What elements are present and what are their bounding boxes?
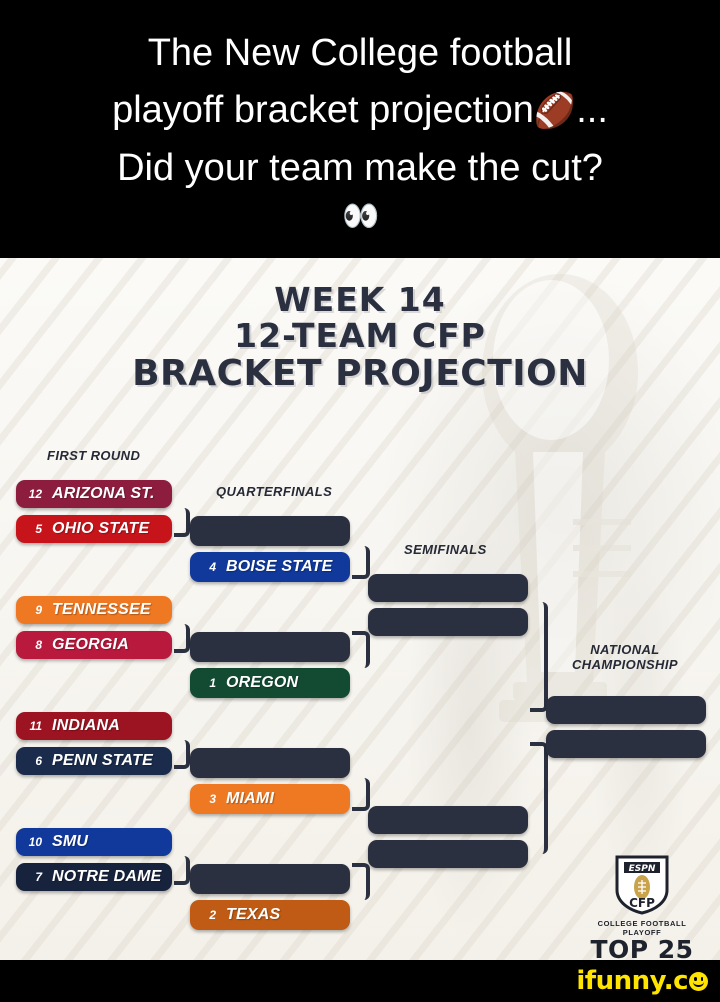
seed-number: 5 [16,522,42,536]
bracket-title-line-3: BRACKET PROJECTION [0,354,720,394]
team-name: TEXAS [226,906,280,924]
championship-slot-tbd-1[interactable] [546,696,706,724]
round-label-first-round: FIRST ROUND [47,448,140,463]
national-championship-line-2: CHAMPIONSHIP [572,657,678,672]
connector-qf3 [352,778,370,811]
connector-qf1 [352,546,370,579]
team-pill-penn-state[interactable]: 6 PENN STATE [16,747,172,775]
quarterfinal-slot-tbd-1[interactable] [190,516,350,546]
team-name: MIAMI [226,790,274,808]
caption-header: The New College football playoff bracket… [0,0,720,258]
smiley-icon [689,972,708,991]
football-icon: 🏈 [534,92,576,130]
semifinal-slot-tbd-3[interactable] [368,806,528,834]
team-pill-texas[interactable]: 2 TEXAS [190,900,350,930]
caption-line-1: The New College football [148,25,573,82]
team-name: SMU [52,833,88,851]
caption-line-2: playoff bracket projection🏈... [112,82,608,140]
seed-number: 11 [16,719,42,733]
team-pill-ohio-state[interactable]: 5 OHIO STATE [16,515,172,543]
meme-page: The New College football playoff bracket… [0,0,720,1002]
team-pill-arizona-st[interactable]: 12 ARIZONA ST. [16,480,172,508]
seed-number: 6 [16,754,42,768]
team-name: NOTRE DAME [52,868,162,886]
caption-line-3: Did your team make the cut? [117,140,603,197]
seed-number: 12 [16,487,42,501]
team-name: PENN STATE [52,752,153,770]
semifinal-slot-tbd-2[interactable] [368,608,528,636]
team-name: TENNESSEE [52,601,151,619]
ifunny-watermark: ifunny.c [0,960,720,1002]
ifunny-watermark-text: ifunny.c [576,966,688,996]
caption-line-2-text: playoff bracket projection [112,89,534,131]
seed-number: 1 [190,676,216,690]
round-label-quarterfinals: QUARTERFINALS [216,484,332,499]
cfp-wordmark: CFP [629,896,655,910]
cfp-shield-icon: ESPN CFP [613,854,671,916]
quarterfinal-slot-tbd-4[interactable] [190,864,350,894]
connector-qf2 [352,631,370,668]
seed-number: 9 [16,603,42,617]
team-pill-boise-state[interactable]: 4 BOISE STATE [190,552,350,582]
seed-number: 10 [16,835,42,849]
connector-fr1 [174,508,190,537]
team-pill-indiana[interactable]: 11 INDIANA [16,712,172,740]
quarterfinal-slot-tbd-2[interactable] [190,632,350,662]
cfp-top25-label: TOP 25 [582,937,702,960]
seed-number: 3 [190,792,216,806]
connector-sf-bottom [530,742,548,854]
team-pill-georgia[interactable]: 8 GEORGIA [16,631,172,659]
round-label-semifinals: SEMIFINALS [404,542,487,557]
semifinal-slot-tbd-1[interactable] [368,574,528,602]
bracket-title-line-1: WEEK 14 [0,282,720,318]
cfp-logo-block: ESPN CFP COLLEGE FOOTBALL PLAYOFF TOP 25… [582,854,702,960]
connector-sf-top [530,602,548,712]
championship-slot-tbd-2[interactable] [546,730,706,758]
seed-number: 2 [190,908,216,922]
connector-qf4 [352,863,370,900]
seed-number: 4 [190,560,216,574]
team-pill-tennessee[interactable]: 9 TENNESSEE [16,596,172,624]
connector-fr2 [174,624,190,653]
espn-wordmark: ESPN [629,864,656,874]
team-name: ARIZONA ST. [52,485,155,503]
quarterfinal-slot-tbd-3[interactable] [190,748,350,778]
team-pill-miami[interactable]: 3 MIAMI [190,784,350,814]
team-name: GEORGIA [52,636,129,654]
connector-fr3 [174,740,190,769]
round-label-national-championship: NATIONAL CHAMPIONSHIP [572,642,678,672]
seed-number: 8 [16,638,42,652]
team-pill-smu[interactable]: 10 SMU [16,828,172,856]
seed-number: 7 [16,870,42,884]
bracket-title-line-2: 12-TEAM CFP [0,318,720,354]
semifinal-slot-tbd-4[interactable] [368,840,528,868]
connector-fr4 [174,856,190,885]
team-pill-notre-dame[interactable]: 7 NOTRE DAME [16,863,172,891]
team-name: OREGON [226,674,298,692]
team-name: INDIANA [52,717,120,735]
national-championship-line-1: NATIONAL [572,642,678,657]
bracket-graphic: WEEK 14 12-TEAM CFP BRACKET PROJECTION F… [0,258,720,960]
eyes-icon: 👀 [342,197,377,237]
caption-line-2-tail: ... [576,89,608,131]
team-pill-oregon[interactable]: 1 OREGON [190,668,350,698]
team-name: BOISE STATE [226,558,333,576]
team-name: OHIO STATE [52,520,149,538]
